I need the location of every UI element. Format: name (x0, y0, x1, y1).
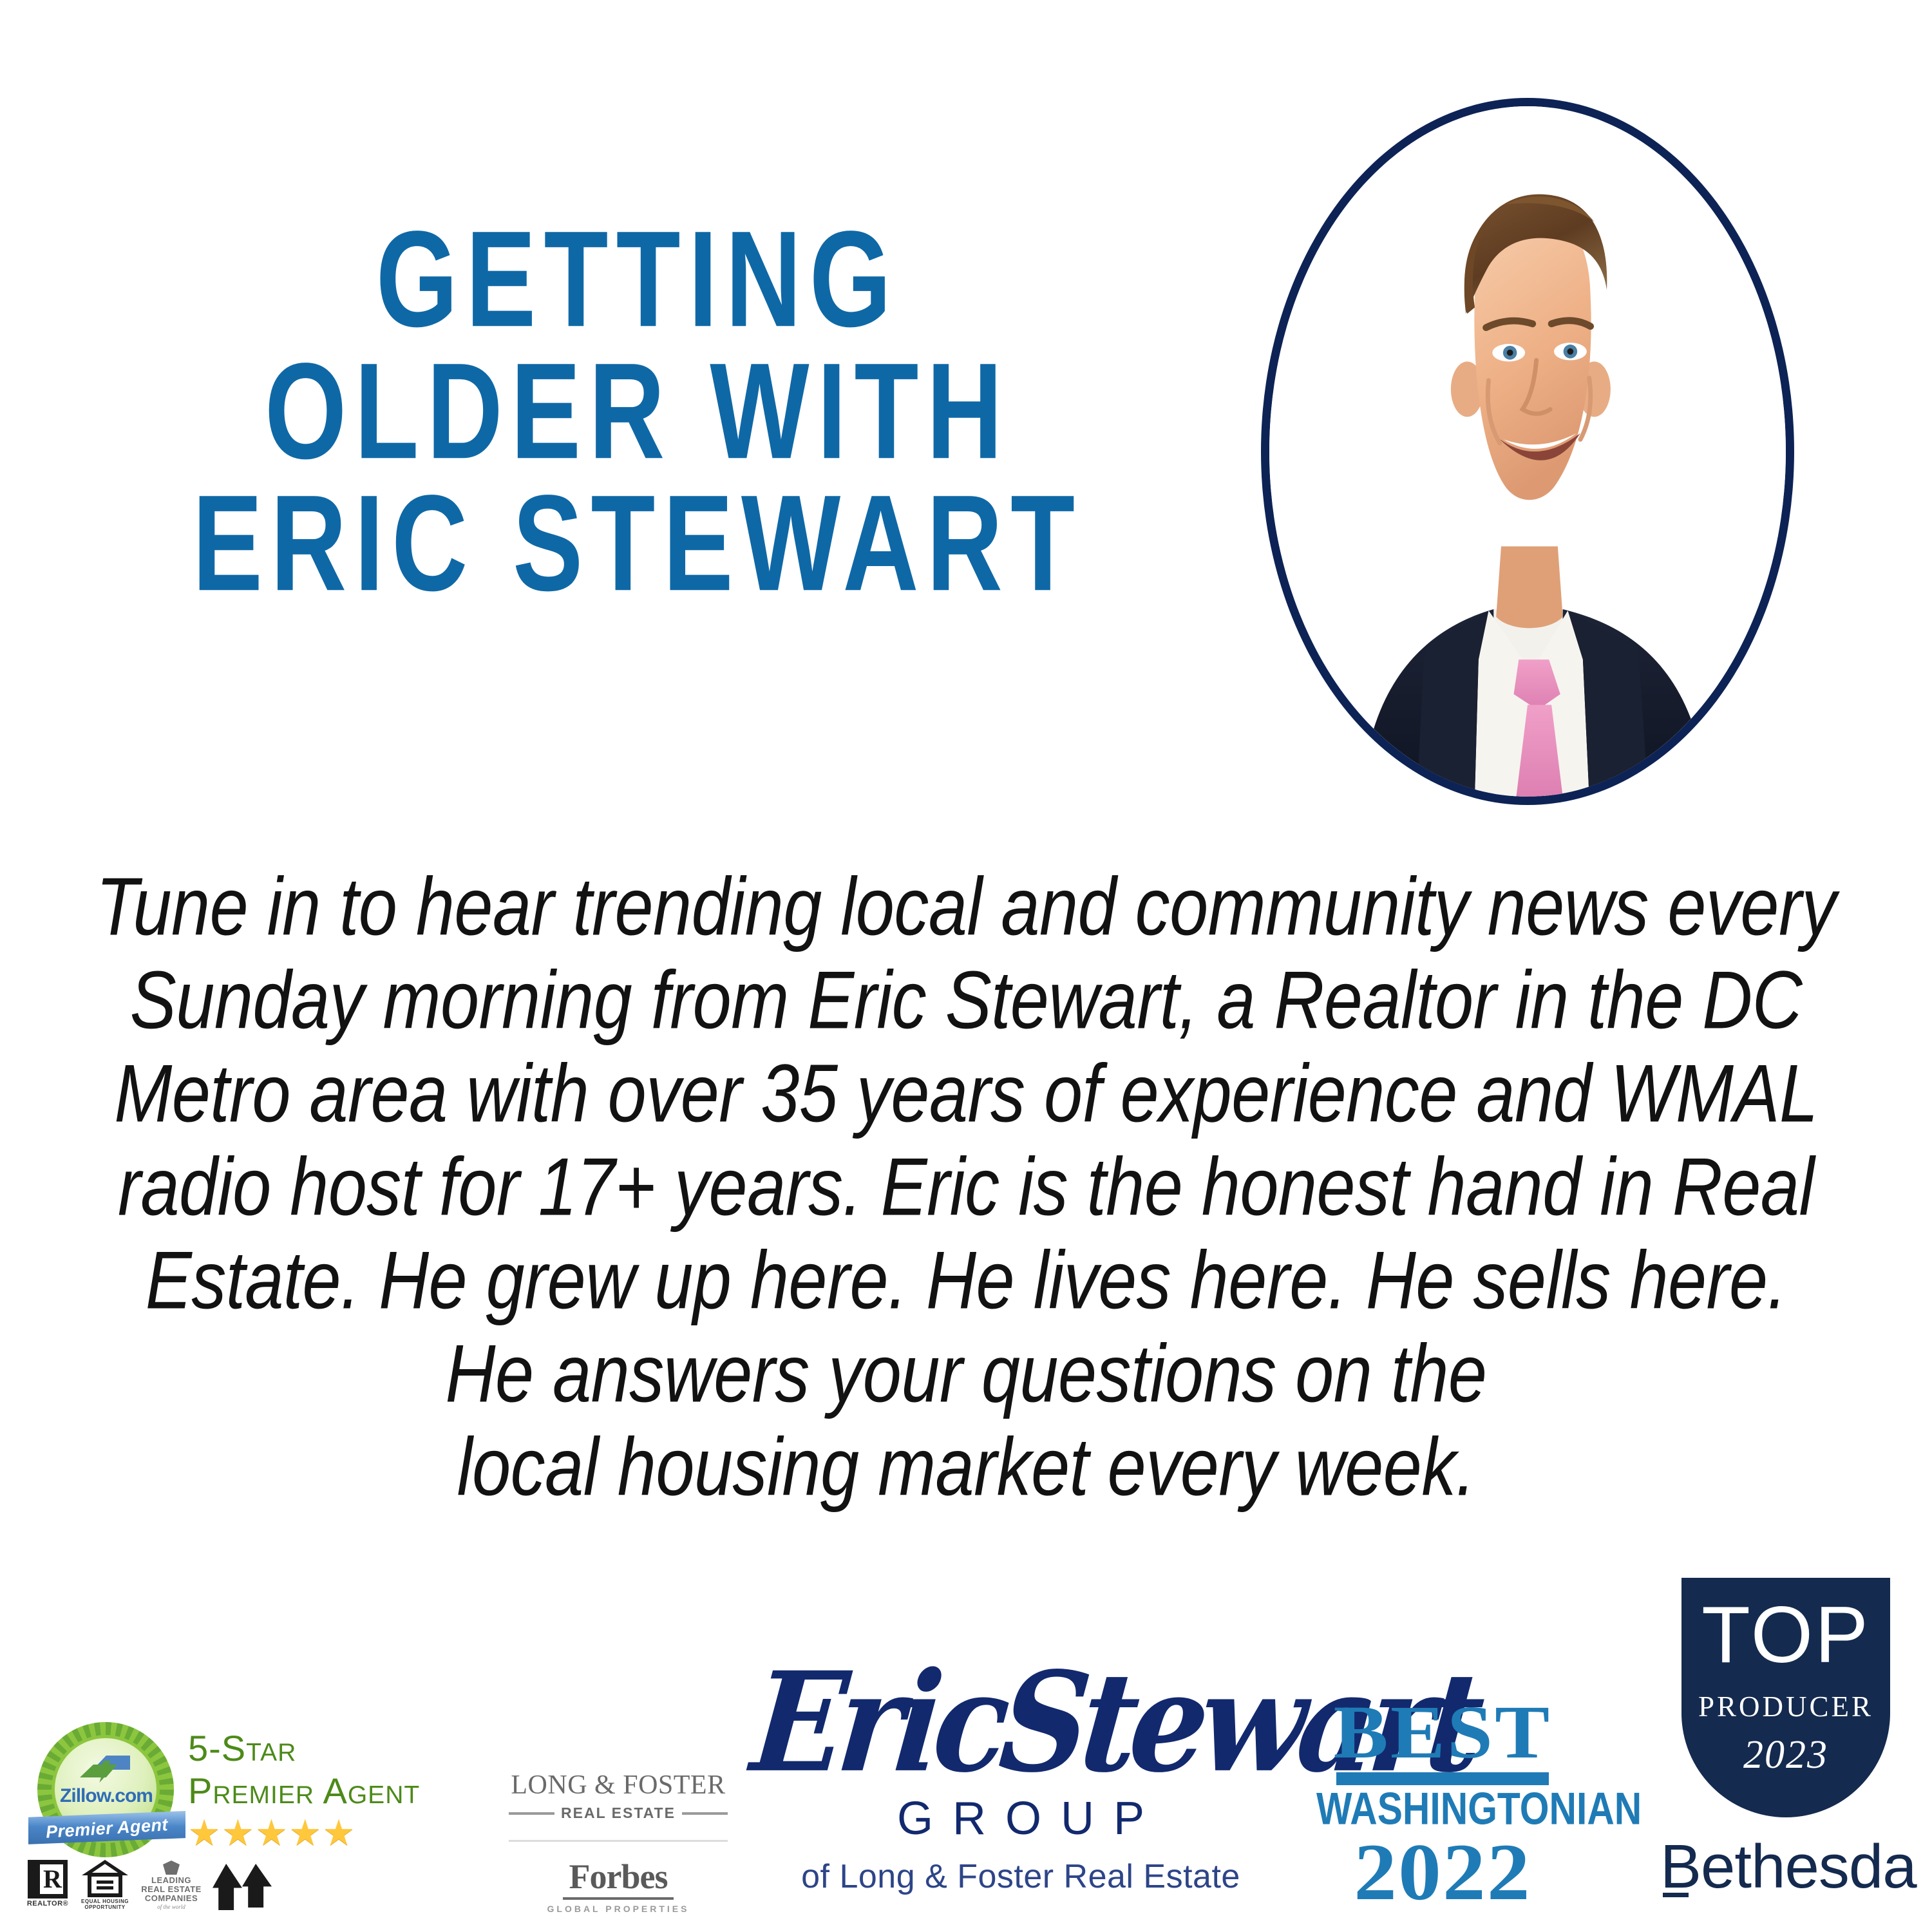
long-foster-name: LONG & FOSTER (509, 1770, 728, 1801)
up-arrows-icon (213, 1861, 272, 1910)
eric-stewart-script-wordmark: EricStewart (746, 1647, 1295, 1798)
washingtonian-name: WASHINGTONIAN (1316, 1785, 1569, 1832)
description-text: Tune in to hear trending local and commu… (32, 860, 1900, 1513)
title-line-3: ERIC STEWART (105, 462, 1170, 623)
long-foster-tagline: REAL ESTATE (561, 1804, 676, 1822)
forbes-subtitle: GLOBAL PROPERTIES (509, 1904, 728, 1914)
realtor-caption: REALTOR® (27, 1900, 68, 1908)
zillow-ribbon-label: Premier Agent (45, 1815, 169, 1842)
top-producer-shield: TOP PRODUCER 2023 (1681, 1578, 1890, 1817)
description-line-7: local housing market every week. (32, 1412, 1900, 1522)
zillow-star-rating: ★★★★★ (188, 1815, 471, 1851)
footer-logos: Zillow.com Premier Agent 5-Star Premier … (0, 1565, 1932, 1932)
realtor-letter: R (42, 1864, 63, 1894)
bethesda-magazine-wordmark: Bethesda (1660, 1832, 1917, 1902)
leading-real-estate-companies-icon: LEADING REAL ESTATE COMPANIES of the wor… (140, 1861, 202, 1910)
long-foster-tagline-rule: REAL ESTATE (509, 1804, 728, 1822)
zillow-award-line-2: Premier Agent (188, 1770, 471, 1812)
portrait-photo (1269, 106, 1786, 797)
equal-housing-opportunity-icon: EQUAL HOUSING OPPORTUNITY (80, 1860, 130, 1910)
zillow-roof-icon (79, 1754, 134, 1784)
portrait (1261, 98, 1794, 805)
lrec-line-4: of the world (157, 1904, 185, 1910)
lrec-line-3: COMPANIES (141, 1894, 202, 1903)
zillow-award-line-1: 5-Star (188, 1727, 471, 1770)
washingtonian-best: BEST (1303, 1699, 1582, 1766)
long-and-foster-logo: LONG & FOSTER REAL ESTATE Forbes GLOBAL … (509, 1770, 728, 1914)
zillow-award-text: 5-Star Premier Agent ★★★★★ (188, 1727, 471, 1851)
top-producer-year: 2023 (1743, 1732, 1828, 1778)
divider (509, 1840, 728, 1842)
page-title: GETTING OLDER WITH ERIC STEWART (71, 213, 1204, 609)
eho-caption: EQUAL HOUSING OPPORTUNITY (80, 1899, 130, 1910)
forbes-rule (563, 1897, 674, 1900)
washingtonian-year: 2022 (1306, 1837, 1579, 1909)
zillow-seal-icon: Zillow.com Premier Agent (32, 1718, 180, 1861)
top-producer-badge: TOP PRODUCER 2023 Bethesda (1660, 1578, 1911, 1902)
top-producer-top: TOP (1701, 1595, 1870, 1676)
zillow-wordmark: Zillow.com (32, 1785, 180, 1807)
lrec-line-1: LEADING (141, 1876, 202, 1885)
forbes-wordmark: Forbes (509, 1859, 728, 1895)
realtor-icon: R REALTOR® (26, 1860, 70, 1910)
eric-stewart-group-logo: EricStewart GROUP of Long & Foster Real … (753, 1655, 1288, 1896)
lrec-line-2: REAL ESTATE (141, 1885, 202, 1894)
portrait-ring (1261, 98, 1794, 805)
association-icons: R REALTOR® EQUAL HOUSING OPPORTUNITY LEA… (26, 1860, 272, 1910)
eric-stewart-group-subtitle: of Long & Foster Real Estate (753, 1857, 1288, 1896)
top-producer-label: PRODUCER (1698, 1690, 1873, 1723)
best-washingtonian-logo: BEST WASHINGTONIAN 2022 (1314, 1699, 1571, 1909)
hero-section: GETTING OLDER WITH ERIC STEWART (0, 0, 1932, 831)
